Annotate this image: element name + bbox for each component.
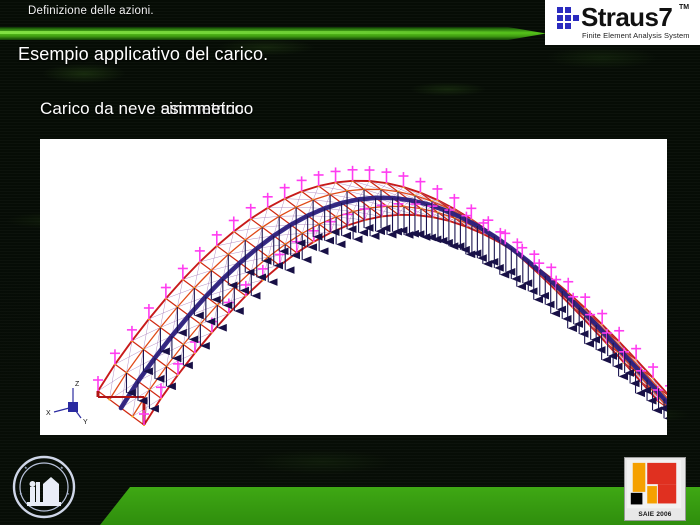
fem-model-render: X Y Z [40, 139, 667, 435]
heading-sub-variant-asymmetric: asimmetrico [161, 99, 254, 118]
axis-triad: X Y Z [46, 381, 88, 426]
load-arrow-up [365, 166, 375, 181]
header-accent-bar-highlight [0, 31, 520, 34]
slide-heading-sub-group: Carico da neve simmetrico Carico da neve… [40, 99, 244, 121]
load-arrow-up [398, 172, 408, 187]
straus7-logo-panel: Straus7 TM Finite Element Analysis Syste… [545, 0, 700, 45]
slide-heading-sub-overlay: Carico da neve asimmetrico [40, 99, 253, 119]
saie-logo: SAIE 2006 [624, 457, 686, 521]
load-arrow-up [314, 171, 324, 186]
fem-model-viewport[interactable]: X Y Z [40, 139, 667, 435]
brand-name: Straus7 [581, 2, 672, 33]
load-arrow-up [110, 349, 120, 364]
load-arrow-up [161, 284, 171, 299]
load-arrow-up [144, 304, 154, 319]
svg-text:Y: Y [83, 419, 88, 426]
load-arrow-up [297, 176, 307, 191]
load-arrow-up [381, 168, 391, 183]
load-arrow-up [348, 166, 358, 181]
trademark-symbol: TM [679, 4, 689, 11]
load-arrow-up [415, 178, 425, 193]
load-arrow-up [178, 264, 188, 279]
university-seal-icon: ★★ ★★ [12, 455, 76, 519]
slide-header-title: Definizione delle azioni. [28, 5, 154, 17]
slide-heading-main: Esempio applicativo del carico. [18, 44, 268, 65]
saie-logo-label: SAIE 2006 [625, 511, 685, 518]
svg-text:★: ★ [19, 491, 23, 496]
load-arrow-up [331, 167, 341, 182]
svg-text:Z: Z [75, 381, 80, 388]
brand-tagline: Finite Element Analysis System [582, 31, 690, 40]
load-arrow-up [127, 326, 137, 341]
saie-logo-icon [625, 458, 683, 518]
svg-text:★: ★ [66, 491, 70, 496]
presentation-slide: Definizione delle azioni. Straus7 TM Fin… [0, 0, 700, 525]
svg-text:X: X [46, 410, 51, 417]
svg-text:★: ★ [60, 465, 64, 470]
pixel-grid-icon [557, 7, 579, 29]
svg-text:★: ★ [24, 465, 28, 470]
